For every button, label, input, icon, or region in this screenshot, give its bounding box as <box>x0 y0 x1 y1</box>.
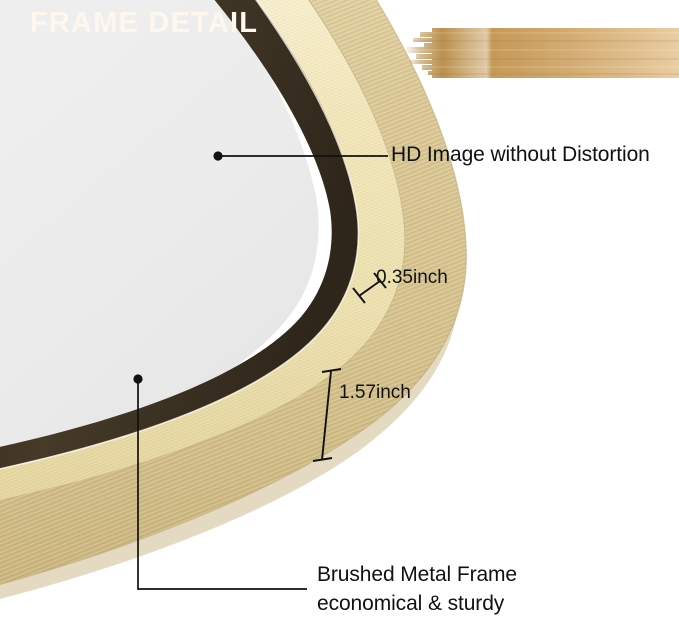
annotation-thickness-small: 0.35inch <box>376 267 448 289</box>
frame-illustration <box>0 0 679 618</box>
frame-detail-banner <box>404 26 679 80</box>
annotation-brushed-metal-line1: Brushed Metal Frame <box>317 563 517 586</box>
banner-title: FRAME DETAIL <box>30 7 258 40</box>
banner-brush-stroke <box>404 26 679 80</box>
annotation-thickness-large: 1.57inch <box>339 382 411 404</box>
annotation-hd-image: HD Image without Distortion <box>391 143 650 168</box>
annotation-brushed-metal: Brushed Metal Frameeconomical & sturdy <box>317 563 517 617</box>
annotation-brushed-metal-line2: economical & sturdy <box>317 592 517 617</box>
frame-detail-image: FRAME DETAIL HD Image without Distortion… <box>0 0 679 618</box>
